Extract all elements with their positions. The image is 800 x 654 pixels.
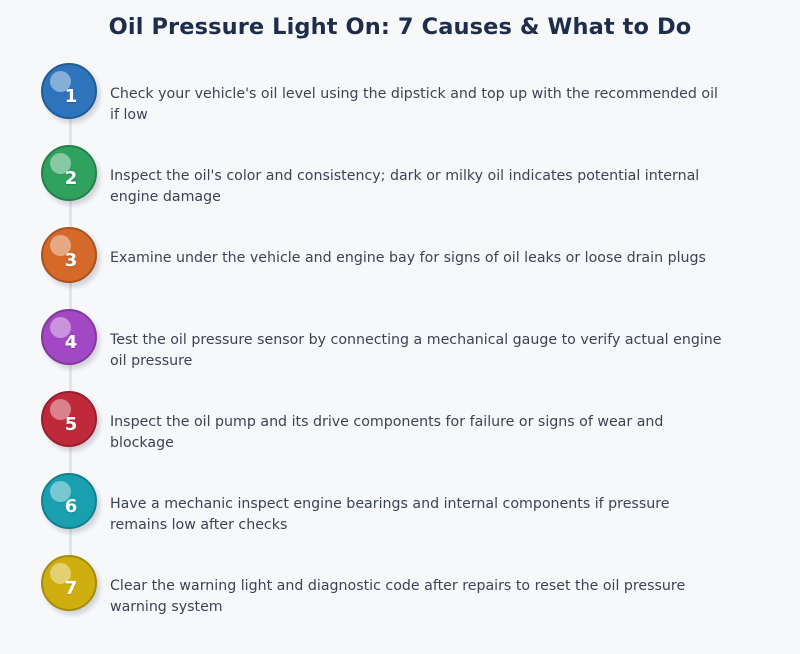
step-number-label: 1 xyxy=(65,88,78,106)
step-marker-container: 5 xyxy=(0,391,110,473)
list-item: 3Examine under the vehicle and engine ba… xyxy=(0,227,800,309)
step-number-badge: 4 xyxy=(41,309,97,365)
step-description: Inspect the oil pump and its drive compo… xyxy=(110,391,800,454)
step-number-badge: 3 xyxy=(41,227,97,283)
list-item: 5Inspect the oil pump and its drive comp… xyxy=(0,391,800,473)
step-number-badge: 7 xyxy=(41,555,97,611)
step-number-label: 2 xyxy=(65,170,78,188)
step-number-label: 6 xyxy=(65,498,78,516)
step-description: Inspect the oil's color and consistency;… xyxy=(110,145,800,208)
list-item: 2Inspect the oil's color and consistency… xyxy=(0,145,800,227)
step-number-label: 5 xyxy=(65,416,78,434)
step-number-badge: 2 xyxy=(41,145,97,201)
step-number-label: 4 xyxy=(65,334,78,352)
step-description: Clear the warning light and diagnostic c… xyxy=(110,555,800,618)
step-number-badge: 1 xyxy=(41,63,97,119)
step-marker-container: 2 xyxy=(0,145,110,227)
step-number-badge: 5 xyxy=(41,391,97,447)
step-marker-container: 3 xyxy=(0,227,110,309)
list-item: 1Check your vehicle's oil level using th… xyxy=(0,63,800,145)
step-list: 1Check your vehicle's oil level using th… xyxy=(0,63,800,637)
list-item: 7Clear the warning light and diagnostic … xyxy=(0,555,800,637)
step-description: Have a mechanic inspect engine bearings … xyxy=(110,473,800,536)
list-item: 4Test the oil pressure sensor by connect… xyxy=(0,309,800,391)
infographic-root: Oil Pressure Light On: 7 Causes & What t… xyxy=(0,0,800,654)
step-marker-container: 6 xyxy=(0,473,110,555)
step-description: Check your vehicle's oil level using the… xyxy=(110,63,800,126)
step-number-label: 7 xyxy=(65,580,78,598)
step-marker-container: 4 xyxy=(0,309,110,391)
page-title: Oil Pressure Light On: 7 Causes & What t… xyxy=(0,14,800,40)
step-number-badge: 6 xyxy=(41,473,97,529)
step-marker-container: 1 xyxy=(0,63,110,145)
list-item: 6Have a mechanic inspect engine bearings… xyxy=(0,473,800,555)
step-description: Examine under the vehicle and engine bay… xyxy=(110,227,800,269)
step-number-label: 3 xyxy=(65,252,78,270)
step-description: Test the oil pressure sensor by connecti… xyxy=(110,309,800,372)
step-marker-container: 7 xyxy=(0,555,110,637)
